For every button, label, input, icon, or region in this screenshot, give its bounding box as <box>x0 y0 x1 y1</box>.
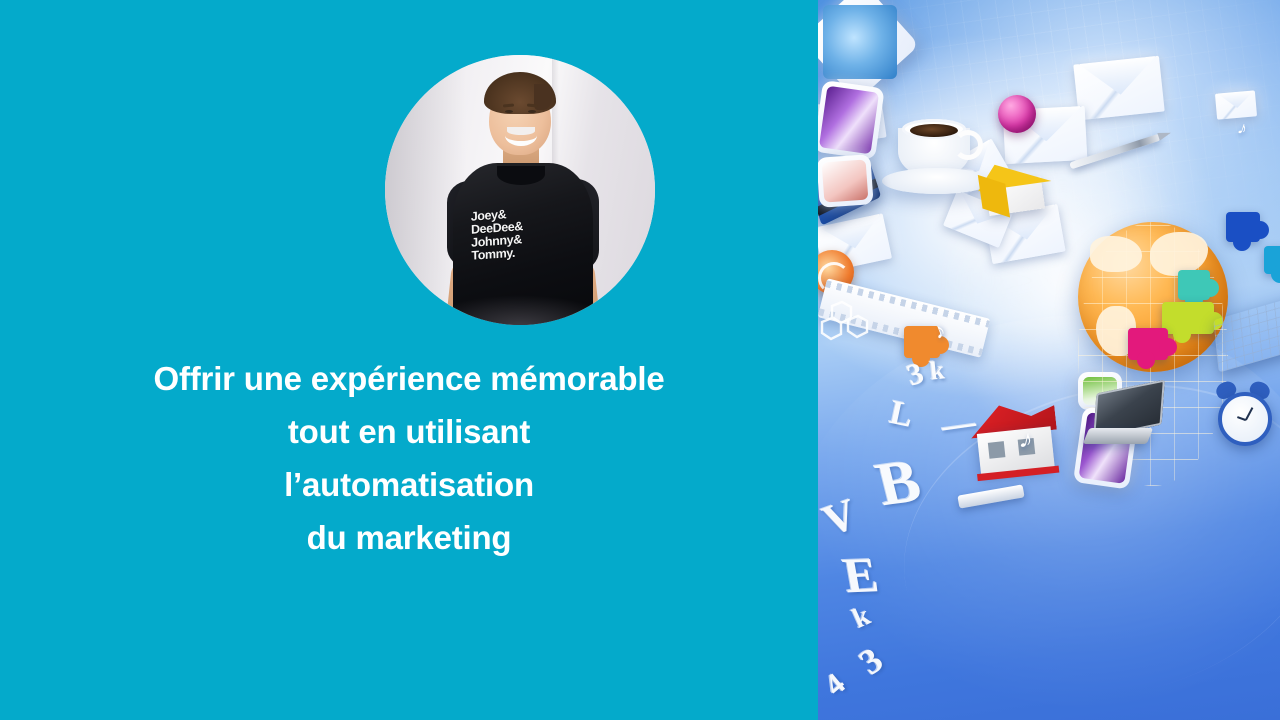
yellow-house-icon <box>975 157 1057 219</box>
tshirt-collar <box>497 163 545 185</box>
globe-landmass <box>1090 236 1142 272</box>
eye-right <box>528 110 536 113</box>
envelope-icon <box>1215 90 1257 119</box>
letter-k-icon: k <box>928 355 946 386</box>
headline-line-4: du marketing <box>0 511 818 564</box>
coffee-liquid <box>910 124 958 137</box>
portrait-photo: Joey& DeeDee& Johnny& Tommy. <box>385 55 655 325</box>
gear-sphere-icon <box>998 95 1036 133</box>
cup-handle <box>953 130 983 160</box>
puzzle-piece-icon <box>1264 246 1280 274</box>
floor-shadow <box>425 295 615 325</box>
photo-tile <box>818 80 885 160</box>
laptop-keyboard-base <box>1083 428 1153 444</box>
slide-root: ♪ ♪ ♪ k 3 B E V k 3 4 — L <box>0 0 1280 720</box>
coffee-cup-icon <box>898 128 970 178</box>
letter-4-icon: 4 <box>819 667 852 703</box>
puzzle-piece-icon <box>1178 270 1210 300</box>
headline-line-2: tout en utilisant <box>0 405 818 458</box>
tshirt-text: Joey& DeeDee& Johnny& Tommy. <box>471 203 580 263</box>
photo-tile-image <box>819 86 879 155</box>
photo-tile <box>818 154 874 208</box>
eye-left <box>505 110 513 113</box>
house-window <box>988 441 1006 459</box>
globe-icon <box>1078 222 1228 486</box>
headline-line-3: l’automatisation <box>0 458 818 511</box>
letter-bar-icon: — <box>940 404 979 446</box>
clock-face <box>1218 392 1272 446</box>
collage-image-panel: ♪ ♪ ♪ k 3 B E V k 3 4 — L <box>818 0 1280 720</box>
page-title: Offrir une expérience mémorable tout en … <box>0 352 818 564</box>
puzzle-piece-icon <box>1162 302 1214 334</box>
smile <box>505 125 537 146</box>
envelope-icon <box>1073 56 1164 121</box>
laptop-icon <box>1086 428 1150 444</box>
hexagon-molecule-icon <box>818 300 872 350</box>
photo-tile-image <box>823 5 897 79</box>
avatar: Joey& DeeDee& Johnny& Tommy. <box>385 55 655 325</box>
photo-tile-image <box>822 160 869 203</box>
headline-line-1: Offrir une expérience mémorable <box>0 352 818 405</box>
puzzle-piece-icon <box>1128 328 1168 360</box>
puzzle-piece-icon <box>1226 212 1260 242</box>
red-house-icon <box>962 399 1068 487</box>
